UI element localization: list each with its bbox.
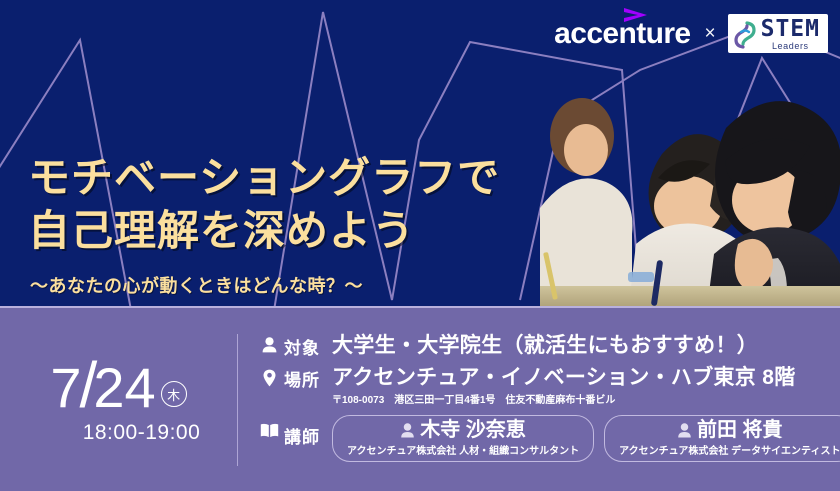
detail-value-venue: アクセンチュア・イノベーション・ハブ東京 8階	[332, 366, 796, 389]
speakers-row: 講師 木寺 沙奈恵 アクセンチュア株式会社 人材・組織コンサルタント	[259, 415, 840, 462]
date-day-of-week: 木	[161, 381, 187, 407]
book-icon	[259, 423, 279, 438]
map-pin-icon	[259, 369, 279, 387]
person-icon	[400, 423, 415, 438]
venue-address: 〒108-0073 港区三田一丁目4番1号 住友不動産麻布十番ビル	[332, 391, 796, 406]
collab-cross-symbol: ×	[705, 23, 716, 45]
vertical-divider	[237, 334, 238, 466]
person-icon	[677, 423, 692, 438]
speaker-role: アクセンチュア株式会社 データサイエンティスト	[619, 442, 840, 457]
logo-row: accenture × STEM Leaders	[554, 14, 828, 53]
detail-value-audience: 大学生・大学院生（就活生にもおすすめ！）	[332, 334, 758, 358]
date-day: 24	[93, 362, 155, 414]
event-poster: accenture × STEM Leaders モチベーショングラフで 自己理…	[0, 0, 840, 491]
person-icon	[259, 337, 279, 353]
page-subtitle: 〜あなたの心が動くときはどんな時？〜	[30, 272, 363, 298]
stem-wordmark: STEM	[761, 18, 820, 41]
speaker-name-wrap: 前田 将貴	[619, 419, 840, 442]
speaker-name-wrap: 木寺 沙奈恵	[347, 419, 579, 442]
hero-section: accenture × STEM Leaders モチベーショングラフで 自己理…	[0, 0, 840, 308]
speaker-name: 前田 将貴	[697, 419, 783, 442]
students-photo	[540, 58, 840, 308]
accenture-logo: accenture	[554, 19, 692, 49]
title-line-1: モチベーショングラフで	[28, 152, 500, 205]
event-time: 18:00-19:00	[83, 421, 201, 445]
accenture-arrow-icon	[623, 7, 649, 23]
detail-label-venue: 場所	[284, 366, 320, 391]
speakers-label: 講師	[284, 423, 320, 448]
speaker-role: アクセンチュア株式会社 人材・組織コンサルタント	[347, 442, 579, 457]
section-divider	[0, 306, 840, 308]
title-line-2: 自己理解を深めよう	[28, 205, 500, 258]
page-title: モチベーショングラフで 自己理解を深めよう	[28, 152, 500, 258]
detail-row-audience: 対象 大学生・大学院生（就活生にもおすすめ！）	[259, 334, 840, 359]
stem-chainlink-icon	[734, 20, 756, 50]
date-month: 7	[50, 362, 81, 414]
event-details: 対象 大学生・大学院生（就活生にもおすすめ！） 場所 アクセンチュア・イノベーシ…	[237, 308, 840, 491]
speaker-card: 木寺 沙奈恵 アクセンチュア株式会社 人材・組織コンサルタント	[332, 415, 594, 462]
event-date-block: 7 / 24 木 18:00-19:00	[0, 308, 237, 491]
speaker-card: 前田 将貴 アクセンチュア株式会社 データサイエンティスト	[604, 415, 840, 462]
speaker-name: 木寺 沙奈恵	[420, 419, 526, 442]
detail-row-venue: 場所 アクセンチュア・イノベーション・ハブ東京 8階 〒108-0073 港区三…	[259, 366, 840, 406]
stem-leaders-subtext: Leaders	[772, 42, 809, 51]
detail-label-audience: 対象	[284, 334, 320, 359]
event-info-band: 7 / 24 木 18:00-19:00 対象	[0, 308, 840, 491]
stem-leaders-logo: STEM Leaders	[728, 14, 828, 53]
